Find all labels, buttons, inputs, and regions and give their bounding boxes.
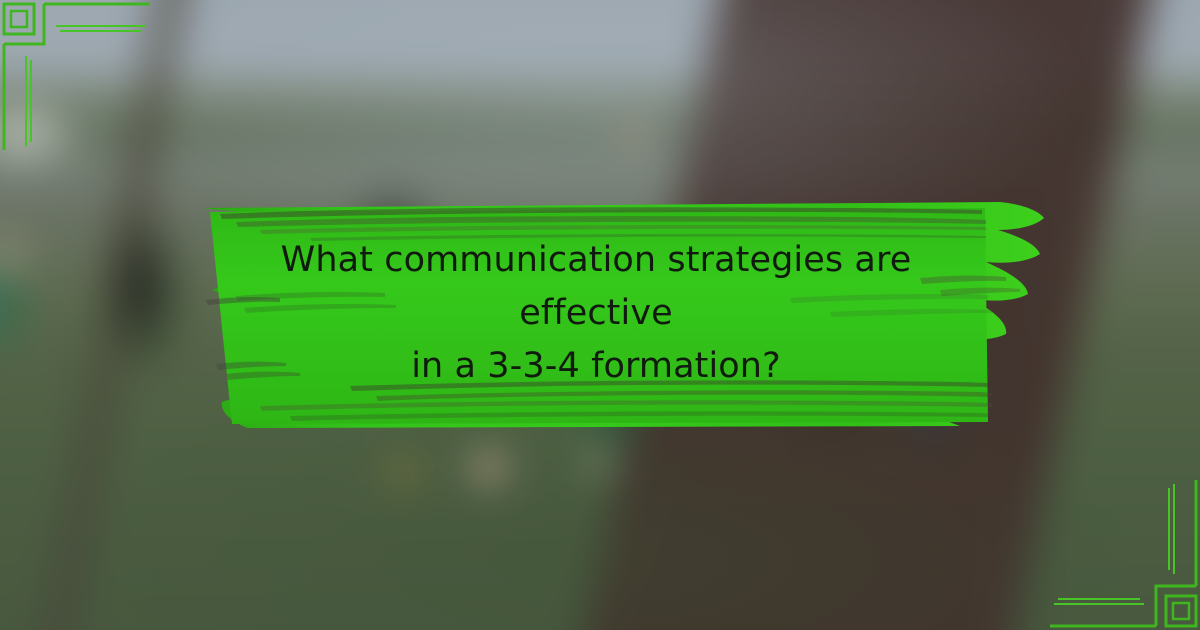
brush-stroke-banner: What communication strategies are effect… <box>140 178 1050 450</box>
image-canvas: What communication strategies are effect… <box>0 0 1200 630</box>
headline-text: What communication strategies are effect… <box>200 234 992 394</box>
